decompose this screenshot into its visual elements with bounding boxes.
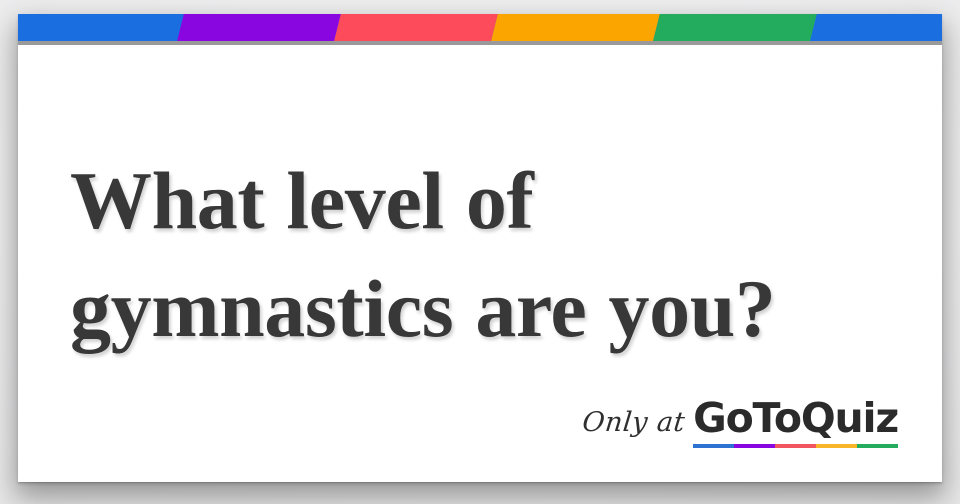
decorative-color-bar [18, 14, 942, 41]
color-bar-segment-blue2 [807, 14, 942, 41]
gotoquiz-logo[interactable]: GoToQuiz [693, 398, 898, 448]
brand-underline-blue [693, 444, 734, 448]
brand-underline-green [857, 444, 898, 448]
color-bar-segment-green [650, 14, 818, 41]
page-backdrop: What level of gymnastics are you? Only a… [0, 0, 960, 504]
color-bar-segment-red [332, 14, 500, 41]
brand-underline-red [775, 444, 816, 448]
brand-underline-purple [734, 444, 775, 448]
page-title: What level of gymnastics are you? [70, 147, 900, 363]
color-bar-underline [18, 41, 942, 45]
brand-lockup: Only at GoToQuiz [582, 398, 898, 448]
brand-tagline: Only at [580, 407, 687, 448]
color-bar-segment-blue [18, 14, 185, 41]
color-bar-segment-orange [489, 14, 661, 41]
gotoquiz-underline [693, 444, 898, 448]
color-bar-segment-purple [174, 14, 342, 41]
quiz-title-card: What level of gymnastics are you? Only a… [18, 14, 942, 482]
brand-underline-orange [816, 444, 857, 448]
gotoquiz-wordmark: GoToQuiz [693, 398, 898, 439]
